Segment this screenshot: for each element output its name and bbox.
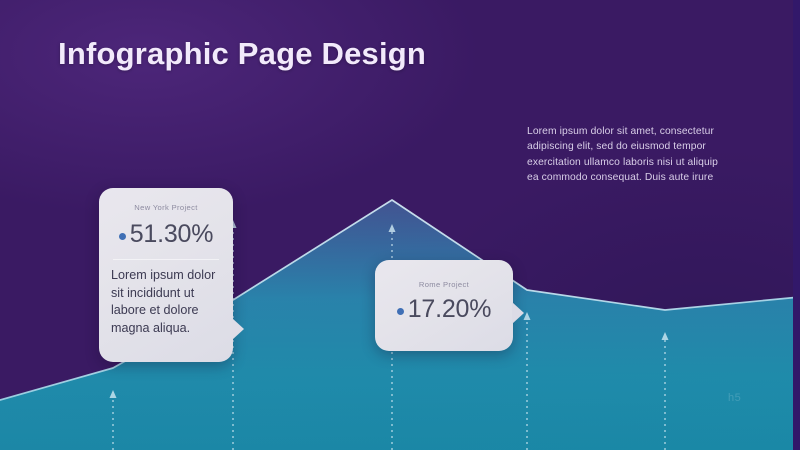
callout-label: Rome Project — [375, 280, 513, 289]
callout-pointer-tail — [512, 302, 524, 324]
callout-value-row: 51.30% — [99, 220, 233, 249]
watermark: h5 — [728, 392, 741, 404]
slide-canvas: Infographic Page Design Lorem ipsum dolo… — [0, 0, 800, 450]
slide-right-edge — [793, 0, 800, 450]
callout-value-row: 17.20% — [375, 295, 513, 324]
callout-body: Lorem ipsum dolor sit incididunt ut labo… — [111, 267, 229, 337]
divider — [113, 259, 219, 260]
bullet-dot-icon — [119, 233, 126, 240]
page-title: Infographic Page Design — [58, 36, 426, 72]
callout-label: New York Project — [99, 203, 233, 212]
bullet-dot-icon — [397, 308, 404, 315]
description-paragraph: Lorem ipsum dolor sit amet, consectetur … — [527, 124, 727, 186]
callout-value: 51.30% — [130, 220, 214, 249]
callout-card-rome[interactable]: Rome Project 17.20% — [375, 260, 513, 351]
callout-value: 17.20% — [408, 295, 492, 324]
callout-pointer-tail — [232, 318, 244, 340]
callout-card-new-york[interactable]: New York Project 51.30% Lorem ipsum dolo… — [99, 188, 233, 362]
